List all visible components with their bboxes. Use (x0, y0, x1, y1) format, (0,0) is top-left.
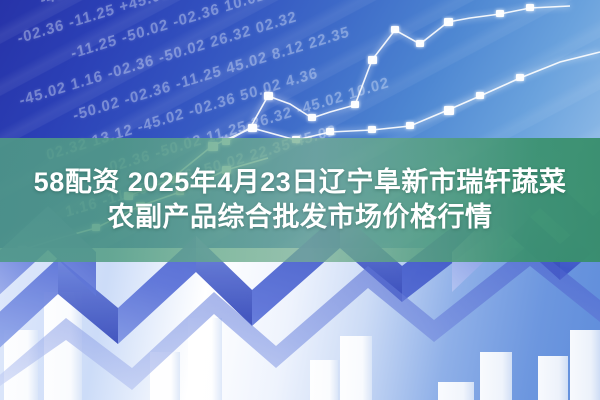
title-line-1: 58配资 2025年4月23日辽宁阜新市瑞轩蔬菜 (34, 168, 567, 197)
ticker-row: -45.02 -02.36 +11.25 -50.02 45.02 21.02 (39, 0, 337, 9)
banner-title: 58配资 2025年4月23日辽宁阜新市瑞轩蔬菜 农副产品综合批发市场价格行情 (0, 138, 600, 262)
cloud-blob (0, 300, 370, 400)
market-price-banner: -45.02 -02.36 +11.25 -50.02 45.02 21.02-… (0, 0, 600, 400)
title-line-2: 农副产品综合批发市场价格行情 (108, 203, 493, 232)
